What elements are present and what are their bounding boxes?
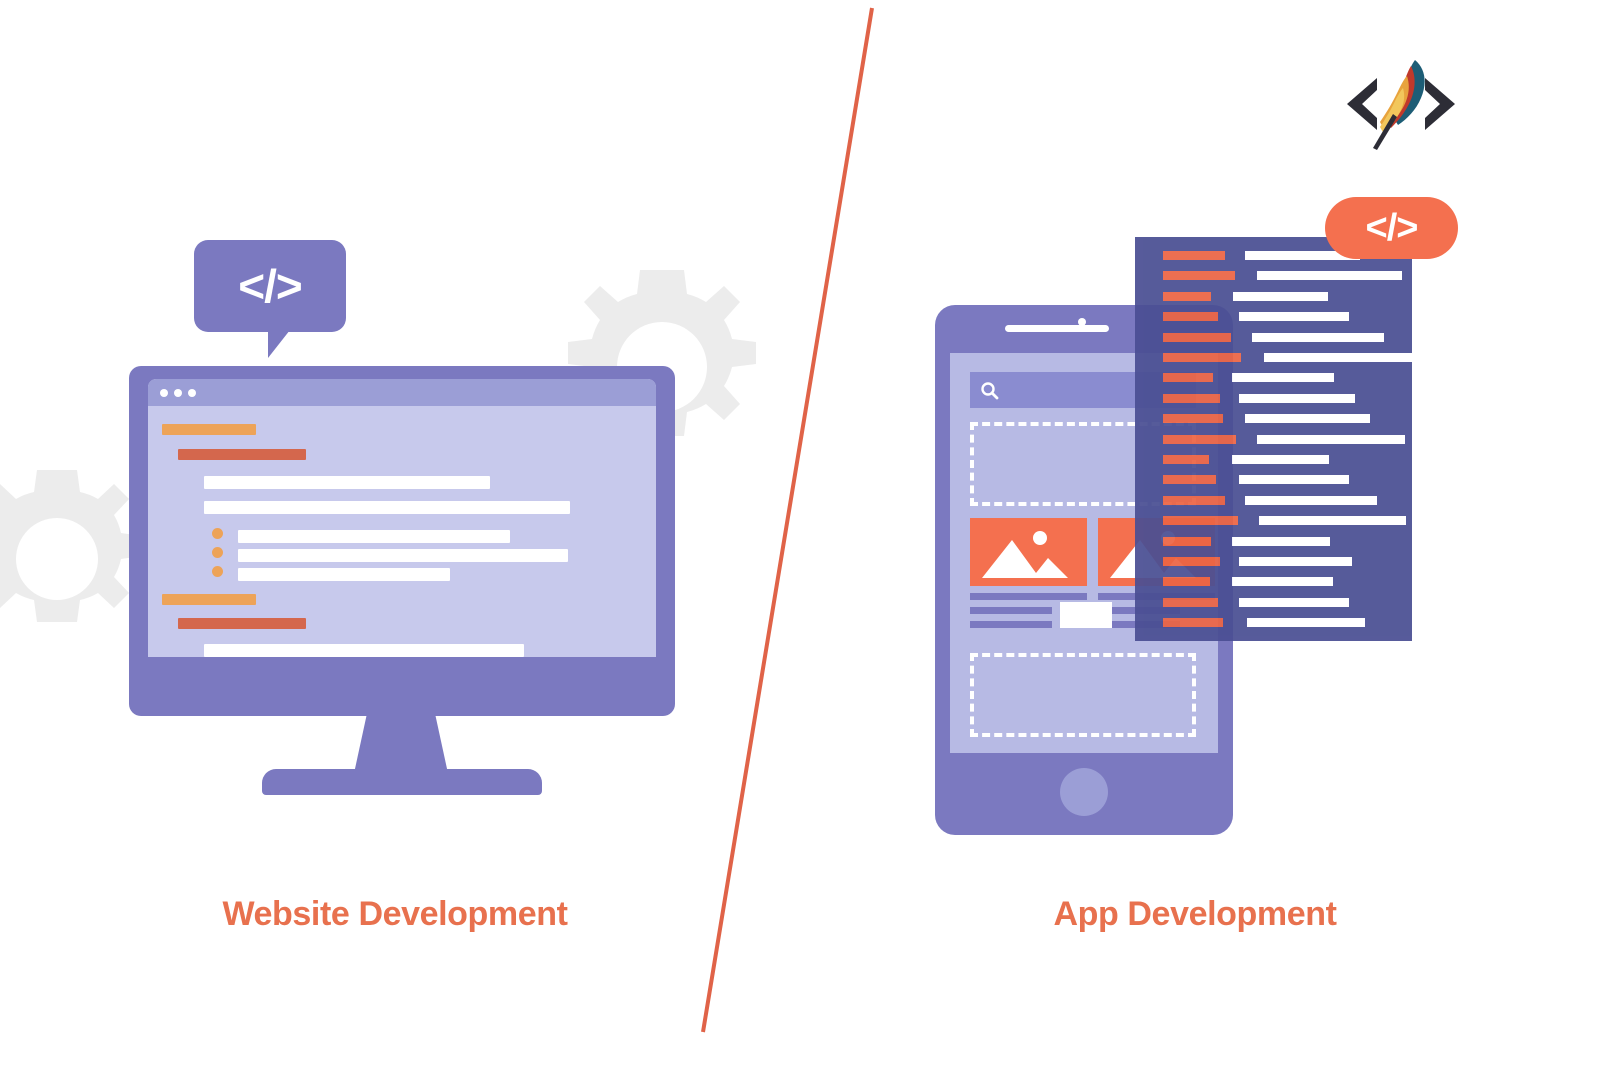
- code-keyword-line: [1163, 577, 1210, 586]
- apache-feather-code-logo: [1325, 48, 1475, 158]
- code-keyword-line: [1163, 537, 1211, 546]
- image-thumbnail-1: [970, 518, 1087, 586]
- phone-speaker: [1005, 325, 1109, 332]
- code-keyword-line: [1163, 353, 1241, 362]
- code-editor-overlay: [1135, 237, 1412, 641]
- code-text-line: [1239, 557, 1352, 566]
- code-text-line: [1239, 475, 1349, 484]
- code-text-line: [1232, 537, 1330, 546]
- code-keyword-line: [1163, 251, 1225, 260]
- code-keyword-line: [1163, 271, 1235, 280]
- code-text-line: [1239, 394, 1355, 403]
- code-text-line: [1257, 271, 1402, 280]
- placeholder-box-bottom: [970, 653, 1196, 737]
- code-text-line: [1259, 516, 1406, 525]
- code-text-line: [1232, 373, 1334, 382]
- code-keyword-line: [1163, 598, 1218, 607]
- code-keyword-line: [1163, 455, 1209, 464]
- text-line: [970, 593, 1087, 600]
- code-brackets-icon: </>: [1366, 207, 1418, 250]
- image-icon: [970, 518, 1087, 586]
- code-text-line: [1245, 414, 1370, 423]
- search-icon: [980, 381, 1000, 401]
- illustration-canvas: </> Website Development: [0, 0, 1600, 1066]
- text-line: [970, 621, 1052, 628]
- code-keyword-line: [1163, 373, 1213, 382]
- code-text-line: [1247, 618, 1365, 627]
- code-keyword-line: [1163, 394, 1220, 403]
- code-keyword-line: [1163, 333, 1231, 342]
- code-text-line: [1232, 577, 1333, 586]
- code-keyword-line: [1163, 312, 1218, 321]
- text-line: [970, 607, 1052, 614]
- code-text-line: [1239, 598, 1349, 607]
- cta-button[interactable]: [1060, 602, 1112, 628]
- phone-camera: [1078, 318, 1086, 326]
- code-keyword-line: [1163, 496, 1225, 505]
- code-keyword-line: [1163, 475, 1216, 484]
- code-keyword-line: [1163, 292, 1211, 301]
- code-text-line: [1232, 455, 1329, 464]
- home-button[interactable]: [1060, 768, 1108, 816]
- code-text-line: [1233, 292, 1328, 301]
- code-keyword-line: [1163, 557, 1220, 566]
- code-text-line: [1264, 353, 1414, 362]
- code-badge[interactable]: </>: [1325, 197, 1458, 259]
- code-text-line: [1252, 333, 1384, 342]
- code-text-line: [1257, 435, 1405, 444]
- app-development-label: App Development: [800, 895, 1590, 934]
- code-text-line: [1239, 312, 1349, 321]
- code-keyword-line: [1163, 618, 1223, 627]
- app-development-section: </> App Development: [0, 0, 1600, 1066]
- code-keyword-line: [1163, 516, 1238, 525]
- code-keyword-line: [1163, 435, 1236, 444]
- code-text-line: [1245, 496, 1377, 505]
- code-keyword-line: [1163, 414, 1223, 423]
